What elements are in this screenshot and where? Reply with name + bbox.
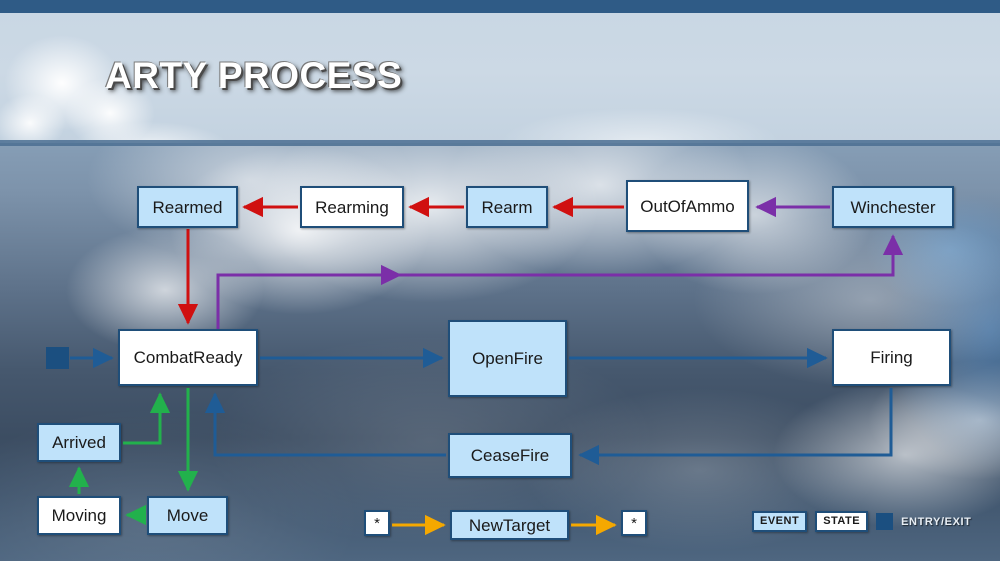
node-label: Rearm	[481, 199, 532, 216]
node-winchester[interactable]: Winchester	[832, 186, 954, 228]
entry-exit-marker	[46, 347, 69, 369]
node-star-right[interactable]: *	[621, 510, 647, 536]
edge-ceasefire-combatready	[215, 394, 446, 455]
node-label: Arrived	[52, 434, 106, 451]
node-newtarget[interactable]: NewTarget	[450, 510, 569, 540]
node-moving[interactable]: Moving	[37, 496, 121, 535]
node-label: Firing	[870, 349, 913, 366]
node-firing[interactable]: Firing	[832, 329, 951, 386]
edge-firing-ceasefire	[580, 388, 891, 455]
legend: EVENT STATE ENTRY/EXIT	[752, 511, 972, 532]
node-ceasefire[interactable]: CeaseFire	[448, 433, 572, 478]
legend-entryexit-swatch	[876, 513, 893, 530]
legend-state-swatch: STATE	[815, 511, 868, 532]
node-label: Winchester	[850, 199, 935, 216]
node-label: Moving	[52, 507, 107, 524]
legend-entryexit-label: ENTRY/EXIT	[901, 516, 971, 528]
node-label: Move	[167, 507, 209, 524]
slide-canvas: ARTY PROCESS	[0, 0, 1000, 561]
node-label: OutOfAmmo	[640, 198, 734, 215]
node-label: OpenFire	[472, 350, 543, 367]
node-move[interactable]: Move	[147, 496, 228, 535]
edge-arrived-combatready	[123, 394, 160, 443]
node-label: NewTarget	[469, 517, 550, 534]
node-outofammo[interactable]: OutOfAmmo	[626, 180, 749, 232]
node-label: CombatReady	[134, 349, 243, 366]
node-label: *	[631, 516, 637, 531]
node-label: *	[374, 516, 380, 531]
node-label: CeaseFire	[471, 447, 549, 464]
node-rearm[interactable]: Rearm	[466, 186, 548, 228]
node-star-left[interactable]: *	[364, 510, 390, 536]
node-arrived[interactable]: Arrived	[37, 423, 121, 462]
edge-combatready-winchester	[218, 236, 893, 330]
node-rearming[interactable]: Rearming	[300, 186, 404, 228]
node-label: Rearmed	[153, 199, 223, 216]
node-openfire[interactable]: OpenFire	[448, 320, 567, 397]
node-combatready[interactable]: CombatReady	[118, 329, 258, 386]
legend-event-swatch: EVENT	[752, 511, 807, 532]
node-label: Rearming	[315, 199, 389, 216]
node-rearmed[interactable]: Rearmed	[137, 186, 238, 228]
